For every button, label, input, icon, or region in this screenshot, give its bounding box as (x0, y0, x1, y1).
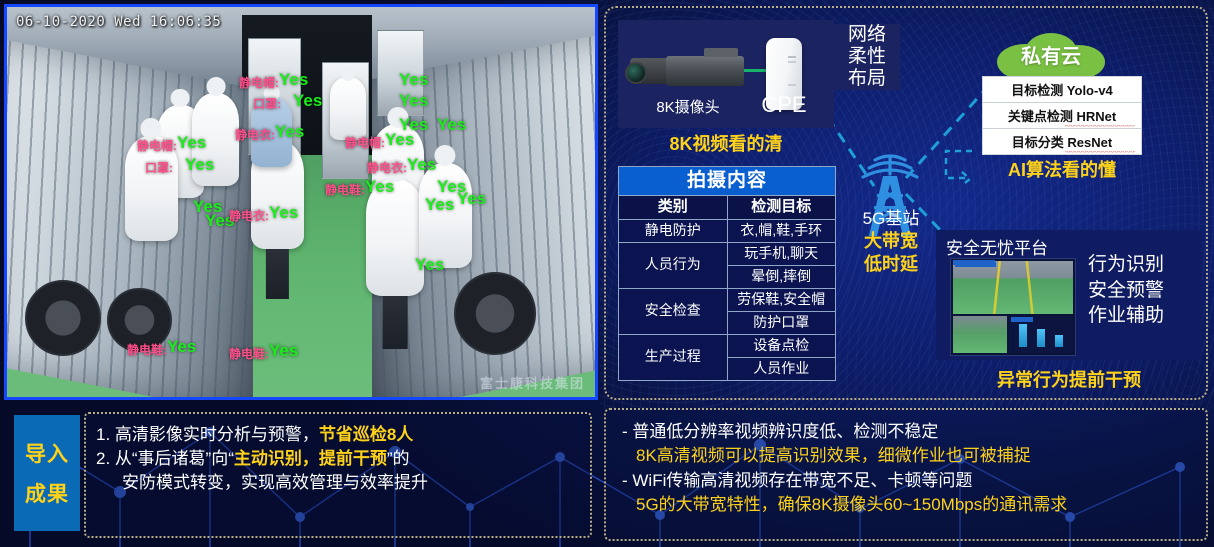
table-row: 生产过程设备点检 (619, 334, 836, 357)
table-row: 安全检查劳保鞋,安全帽 (619, 288, 836, 311)
detection-result-label: Yes (269, 341, 298, 361)
text-line: 安全预警 (1088, 278, 1200, 304)
result-2-prefix: 2. 从“事后诸葛”向“ (96, 449, 234, 468)
detection-result-label: Yes (399, 70, 428, 90)
result-item-2: 2. 从“事后诸葛”向“主动识别，提前干预”的 (96, 447, 580, 471)
detection-result-label: Yes (269, 203, 298, 223)
detection-category-label: 静电衣: (235, 126, 275, 143)
table-category-cell: 人员行为 (619, 242, 728, 288)
detection-category-label: 口罩: (145, 159, 173, 176)
tower-label: 5G基站 (838, 204, 944, 229)
table-header-cell: 检测目标 (727, 195, 836, 219)
algorithm-item: 目标检测 Yolo-v4 (983, 77, 1141, 103)
text-line: 网络 (834, 24, 900, 46)
table-category-cell: 安全检查 (619, 288, 728, 334)
result-item-3: 安防模式转变，实现高效管理与效率提升 (96, 471, 580, 495)
table-row: 静电防护衣,帽,鞋,手环 (619, 219, 836, 242)
detection-category-label: 静电鞋: (127, 341, 167, 358)
comparison-line-4: 5G的大带宽特性，确保8K摄像头60~150Mbps的通讯需求 (622, 493, 1192, 517)
detection-category-label: 静电帽: (345, 134, 385, 151)
detection-category-label: 口罩: (253, 95, 281, 112)
detection-category-label: 静电衣: (367, 159, 407, 176)
detection-category-label: 静电鞋: (229, 345, 269, 362)
text-line: 作业辅助 (1088, 303, 1200, 329)
text-line: 行为识别 (1088, 252, 1200, 278)
chart-bar (1037, 329, 1045, 347)
results-text-box: 1. 高清影像实时分析与预警，节省巡检8人 2. 从“事后诸葛”向“主动识别，提… (84, 412, 592, 538)
dashboard-sub-feed (953, 316, 1007, 353)
algorithm-item: 关键点检测 HRNet (983, 103, 1141, 129)
algorithm-item: 目标分类 ResNet (983, 129, 1141, 154)
camera-caption: 8K视频看的清 (618, 130, 834, 156)
ethernet-cable (744, 69, 768, 72)
badge-line-1: 导入 (25, 438, 69, 468)
video-watermark: 富士康科技集团 (480, 373, 585, 392)
detection-result-label: Yes (437, 115, 466, 135)
camera-cpe-group: 8K摄像头 CPE (618, 20, 834, 128)
private-cloud-label: 私有云 (991, 40, 1111, 69)
detection-result-label: Yes (185, 155, 214, 175)
spellcheck-underline (1065, 124, 1135, 127)
camera-top-icon (704, 48, 738, 57)
table-header-cell: 类别 (619, 195, 728, 219)
detection-result-label: Yes (399, 91, 428, 111)
text-line: 低时延 (838, 253, 944, 276)
text-line: 大带宽 (838, 230, 944, 253)
dashed-bracket-icon (942, 148, 978, 186)
video-scene (7, 7, 595, 397)
text-line: 布局 (834, 68, 900, 90)
table-target-cell: 人员作业 (727, 357, 836, 380)
capture-content-table: 拍摄内容类别检测目标静电防护衣,帽,鞋,手环人员行为玩手机,聊天晕倒,摔倒安全检… (618, 166, 836, 381)
table-category-cell: 生产过程 (619, 334, 728, 380)
results-badge: 导入 成果 (14, 415, 80, 531)
detection-result-label: Yes (365, 177, 394, 197)
result-1-highlight: 节省巡检8人 (319, 425, 413, 444)
dashboard-bar-chart (1009, 316, 1073, 353)
text-line: 柔性 (834, 46, 900, 68)
comparison-text-box: - 普通低分辨率视频辨识度低、检测不稳定 8K高清视频可以提高识别效果，细微作业… (614, 416, 1200, 534)
tower-benefit-label: 大带宽低时延 (838, 230, 944, 275)
ai-algorithm-list: 目标检测 Yolo-v4关键点检测 HRNet目标分类 ResNet (982, 76, 1142, 155)
slide-root: 06-10-2020 Wed 16:06:35 富士康科技集团 静电帽:Yes口… (0, 0, 1214, 547)
table-target-cell: 晕倒,摔倒 (727, 265, 836, 288)
platform-caption: 异常行为提前干预 (936, 366, 1202, 392)
detection-result-label: Yes (407, 155, 436, 175)
detection-category-label: 静电鞋: (325, 181, 365, 198)
table-target-cell: 玩手机,聊天 (727, 242, 836, 265)
scene-cable-reel (454, 272, 536, 354)
table-target-cell: 防护口罩 (727, 311, 836, 334)
table-row: 人员行为玩手机,聊天 (619, 242, 836, 265)
detection-result-label: Yes (275, 122, 304, 142)
camera-body-icon (666, 56, 744, 86)
result-2-highlight: 主动识别，提前干预 (234, 449, 387, 468)
badge-line-2: 成果 (25, 478, 69, 508)
detection-result-label: Yes (279, 70, 308, 90)
detection-result-label: Yes (425, 195, 454, 215)
platform-features: 行为识别安全预警作业辅助 (1088, 252, 1200, 329)
platform-title: 安全无忧平台 (946, 234, 1048, 259)
result-item-1: 1. 高清影像实时分析与预警，节省巡检8人 (96, 423, 580, 447)
chart-bar (1019, 324, 1027, 347)
monitoring-dashboard[interactable] (950, 258, 1076, 356)
detection-result-label: Yes (167, 337, 196, 357)
network-flexibility-label: 网络柔性布局 (834, 24, 900, 90)
detection-category-label: 静电衣: (229, 207, 269, 224)
detection-category-label: 静电帽: (137, 137, 177, 154)
result-2-suffix: ”的 (387, 449, 410, 468)
comparison-line-1: - 普通低分辨率视频辨识度低、检测不稳定 (622, 420, 1192, 444)
detection-result-label: Yes (415, 255, 444, 275)
architecture-panel: 8K摄像头 CPE 网络柔性布局 8K视频看的清 拍摄内容类别检测目标静电防护衣… (604, 6, 1208, 400)
dashboard-bottom-row (953, 316, 1073, 353)
detection-category-label: 静电帽: (239, 74, 279, 91)
comparison-line-2: 8K高清视频可以提高识别效果，细微作业也可被捕捉 (622, 444, 1192, 468)
spellcheck-underline (1065, 150, 1135, 153)
detection-result-label: Yes (457, 189, 486, 209)
table-category-cell: 静电防护 (619, 219, 728, 242)
table-title: 拍摄内容 (619, 167, 836, 196)
chart-bar (1055, 335, 1063, 348)
result-1-prefix: 1. 高清影像实时分析与预警， (96, 425, 319, 444)
ai-caption: AI算法看的懂 (982, 156, 1142, 182)
cpe-label: CPE (736, 92, 832, 118)
table-target-cell: 劳保鞋,安全帽 (727, 288, 836, 311)
table-target-cell: 设备点检 (727, 334, 836, 357)
detection-result-label: Yes (177, 133, 206, 153)
scene-worker (330, 77, 365, 139)
detection-result-label: Yes (293, 91, 322, 111)
surveillance-video-panel[interactable]: 06-10-2020 Wed 16:06:35 富士康科技集团 静电帽:Yes口… (4, 4, 598, 400)
detection-result-label: Yes (399, 115, 428, 135)
camera-lens-icon (630, 58, 670, 84)
comparison-line-3: - WiFi传输高清视频存在带宽不足、卡顿等问题 (622, 469, 1192, 493)
video-timestamp: 06-10-2020 Wed 16:06:35 (16, 14, 221, 30)
table-target-cell: 衣,帽,鞋,手环 (727, 219, 836, 242)
scene-cable-reel (25, 280, 101, 356)
dashboard-main-feed (953, 261, 1073, 314)
